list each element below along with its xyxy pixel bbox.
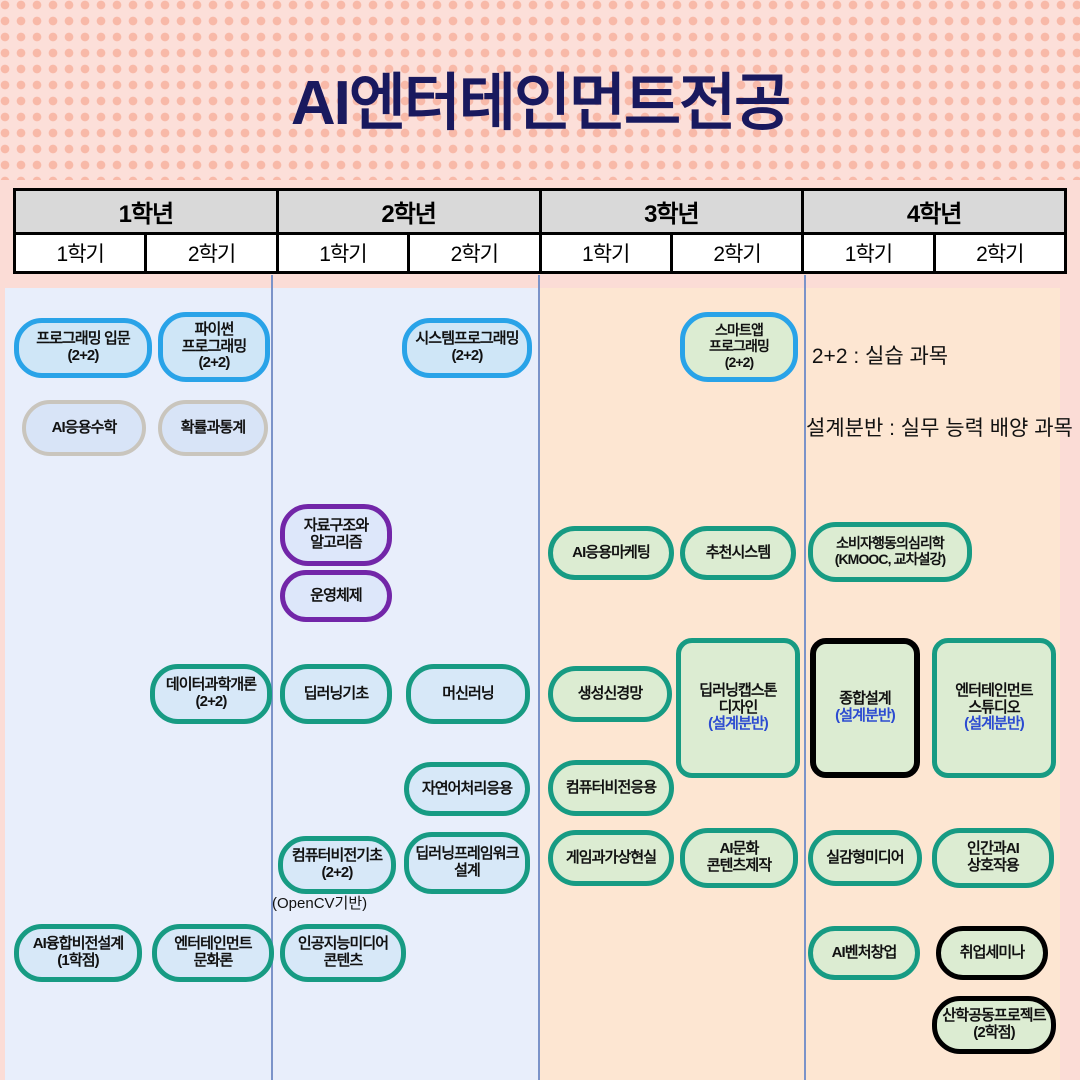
course-node-line: 컴퓨터비전기초 bbox=[292, 848, 382, 865]
page-title: AI엔터테인먼트전공 bbox=[0, 52, 1080, 142]
course-node-line: (2+2) bbox=[196, 694, 227, 711]
course-node-line: AI응용마케팅 bbox=[572, 545, 650, 562]
course-node[interactable]: AI문화콘텐츠제작 bbox=[680, 828, 798, 888]
course-node-line: 실감형미디어 bbox=[826, 850, 903, 867]
course-node-line: 문화론 bbox=[194, 953, 233, 970]
course-node-line: 인간과AI bbox=[967, 841, 1019, 858]
course-node-line: 콘텐츠 bbox=[324, 953, 363, 970]
course-node-line: 자료구조와 bbox=[304, 518, 369, 535]
course-node-line: AI융합비전설계 bbox=[33, 936, 124, 953]
course-node-line: (2+2) bbox=[68, 348, 99, 365]
legend-practice: 2+2 : 실습 과목 bbox=[812, 340, 948, 370]
divider-year2-year3 bbox=[538, 275, 540, 1080]
course-node-line: 운영체제 bbox=[310, 588, 362, 605]
course-node[interactable]: 컴퓨터비전기초(2+2) bbox=[278, 836, 396, 894]
course-node-line: 딥러닝캡스톤 bbox=[699, 683, 776, 700]
semester-header-cell: 2학기 bbox=[410, 235, 541, 271]
course-node-line: 종합설계 bbox=[839, 691, 891, 708]
course-node[interactable]: AI응용수학 bbox=[22, 400, 146, 456]
course-node-line: (2+2) bbox=[452, 348, 483, 365]
course-node[interactable]: 인공지능미디어콘텐츠 bbox=[280, 924, 406, 982]
course-node[interactable]: AI융합비전설계(1학점) bbox=[14, 924, 142, 982]
course-node-line: 파이썬 bbox=[195, 322, 234, 339]
course-node-line: 인공지능미디어 bbox=[298, 936, 388, 953]
course-node[interactable]: 딥러닝캡스톤디자인(설계분반) bbox=[676, 638, 800, 778]
semester-header-cell: 1학기 bbox=[542, 235, 673, 271]
grade-header-cell: 4학년 bbox=[804, 191, 1064, 235]
grade-semester-table: 1학년2학년3학년4학년 1학기2학기1학기2학기1학기2학기1학기2학기 bbox=[13, 188, 1067, 274]
course-node-line: 취업세미나 bbox=[960, 945, 1025, 962]
course-node-line: 엔터테인먼트 bbox=[174, 936, 251, 953]
course-node-line: (1학점) bbox=[57, 953, 98, 970]
course-node-line: 상호작용 bbox=[967, 858, 1019, 875]
course-node[interactable]: 소비자행동의심리학(KMOOC, 교차설강) bbox=[808, 522, 972, 582]
course-node-line: 스마트앱 bbox=[715, 323, 763, 339]
course-node-line: 소비자행동의심리학 bbox=[836, 536, 944, 552]
course-annotation: (OpenCV기반) bbox=[272, 892, 367, 913]
course-node-line: (2학점) bbox=[973, 1025, 1014, 1042]
course-node-line: 프로그래밍 bbox=[709, 339, 769, 355]
grade-header-cell: 3학년 bbox=[542, 191, 805, 235]
course-node[interactable]: 종합설계(설계분반) bbox=[810, 638, 920, 778]
course-node-line: 산학공동프로젝트 bbox=[942, 1008, 1045, 1025]
course-node[interactable]: 운영체제 bbox=[280, 570, 392, 622]
header-banner: AI엔터테인먼트전공 bbox=[0, 0, 1080, 180]
course-node[interactable]: 엔터테인먼트스튜디오(설계분반) bbox=[932, 638, 1056, 778]
grade-header-cell: 2학년 bbox=[279, 191, 542, 235]
course-node-line: 자연어처리응용 bbox=[422, 781, 512, 798]
course-node[interactable]: 머신러닝 bbox=[406, 664, 530, 724]
course-node-subtitle: (설계분반) bbox=[708, 716, 768, 733]
course-node[interactable]: AI벤처창업 bbox=[808, 926, 920, 980]
course-node[interactable]: 파이썬프로그래밍(2+2) bbox=[158, 312, 270, 382]
semester-header-cell: 1학기 bbox=[804, 235, 935, 271]
course-node-line: 프로그래밍 입문 bbox=[36, 331, 130, 348]
course-node[interactable]: 확률과통계 bbox=[158, 400, 268, 456]
course-node-line: AI응용수학 bbox=[52, 420, 117, 437]
course-node[interactable]: 컴퓨터비전응용 bbox=[548, 760, 674, 816]
course-node[interactable]: 딥러닝기초 bbox=[280, 664, 392, 724]
course-node[interactable]: 스마트앱프로그래밍(2+2) bbox=[680, 312, 798, 382]
course-node-subtitle: (설계분반) bbox=[964, 716, 1024, 733]
course-node[interactable]: 실감형미디어 bbox=[808, 830, 922, 886]
course-node[interactable]: 자연어처리응용 bbox=[404, 762, 530, 816]
course-node[interactable]: 취업세미나 bbox=[936, 926, 1048, 980]
course-node-line: 디자인 bbox=[719, 700, 758, 717]
course-node-line: 설계 bbox=[454, 863, 480, 880]
course-node[interactable]: 게임과가상현실 bbox=[548, 830, 674, 886]
course-node-line: 알고리즘 bbox=[310, 535, 362, 552]
course-node-line: 딥러닝기초 bbox=[304, 686, 369, 703]
semester-header-cell: 1학기 bbox=[279, 235, 410, 271]
curriculum-roadmap: AI엔터테인먼트전공 1학년2학년3학년4학년 1학기2학기1학기2학기1학기2… bbox=[0, 0, 1080, 1080]
course-node-line: 콘텐츠제작 bbox=[707, 858, 772, 875]
course-node[interactable]: 추천시스템 bbox=[680, 526, 796, 580]
legend-design: 설계분반 : 실무 능력 배양 과목 bbox=[806, 412, 1073, 442]
course-node[interactable]: 딥러닝프레임워크설계 bbox=[404, 832, 530, 894]
course-node-line: (2+2) bbox=[322, 865, 353, 882]
course-node-line: 컴퓨터비전응용 bbox=[566, 780, 656, 797]
semester-header-cell: 1학기 bbox=[16, 235, 147, 271]
course-node[interactable]: 시스템프로그래밍(2+2) bbox=[402, 318, 532, 378]
course-node-line: 생성신경망 bbox=[578, 686, 643, 703]
course-node-line: (2+2) bbox=[199, 355, 230, 372]
semester-header-cell: 2학기 bbox=[936, 235, 1064, 271]
semester-header-cell: 2학기 bbox=[673, 235, 804, 271]
course-node[interactable]: 인간과AI상호작용 bbox=[932, 828, 1054, 888]
course-node-line: (2+2) bbox=[725, 355, 754, 371]
course-node-line: AI문화 bbox=[719, 841, 758, 858]
course-node[interactable]: AI응용마케팅 bbox=[548, 526, 674, 580]
course-node-line: 게임과가상현실 bbox=[566, 850, 656, 867]
course-node-line: 프로그래밍 bbox=[182, 339, 247, 356]
course-node-line: 시스템프로그래밍 bbox=[415, 331, 518, 348]
divider-year4-sem1 bbox=[804, 275, 806, 1080]
course-node[interactable]: 데이터과학개론(2+2) bbox=[150, 664, 272, 724]
semester-header-row: 1학기2학기1학기2학기1학기2학기1학기2학기 bbox=[16, 235, 1064, 271]
course-node-line: 추천시스템 bbox=[706, 545, 771, 562]
course-node-line: (KMOOC, 교차설강) bbox=[835, 552, 946, 568]
course-node-line: 엔터테인먼트 bbox=[955, 683, 1032, 700]
course-node[interactable]: 엔터테인먼트문화론 bbox=[152, 924, 274, 982]
course-node-line: AI벤처창업 bbox=[832, 945, 897, 962]
course-node-line: 머신러닝 bbox=[442, 686, 494, 703]
semester-header-cell: 2학기 bbox=[147, 235, 278, 271]
grade-header-row: 1학년2학년3학년4학년 bbox=[16, 191, 1064, 235]
course-node[interactable]: 자료구조와알고리즘 bbox=[280, 504, 392, 566]
course-node[interactable]: 생성신경망 bbox=[548, 666, 672, 722]
course-node-subtitle: (설계분반) bbox=[835, 708, 895, 725]
course-node[interactable]: 프로그래밍 입문(2+2) bbox=[14, 318, 152, 378]
course-node-line: 스튜디오 bbox=[968, 700, 1020, 717]
course-node-line: 데이터과학개론 bbox=[166, 677, 256, 694]
course-node-line: 딥러닝프레임워크 bbox=[415, 846, 518, 863]
grade-header-cell: 1학년 bbox=[16, 191, 279, 235]
course-node-line: 확률과통계 bbox=[181, 420, 246, 437]
course-node[interactable]: 산학공동프로젝트(2학점) bbox=[932, 996, 1056, 1054]
